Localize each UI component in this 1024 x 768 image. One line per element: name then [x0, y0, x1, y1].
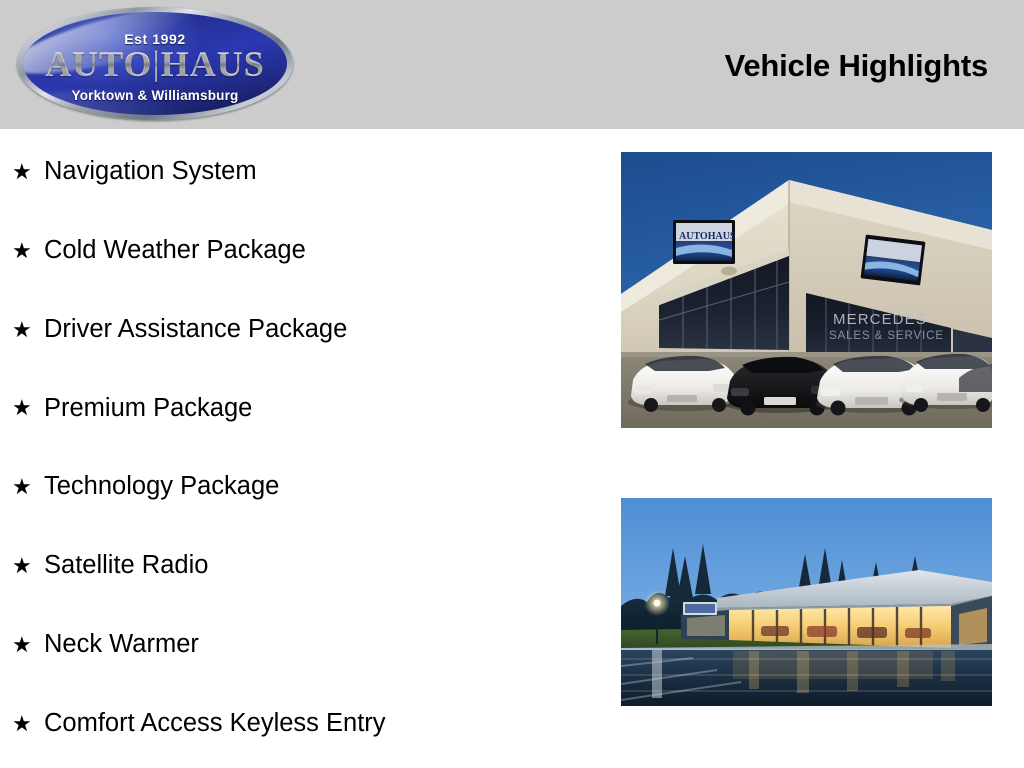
- star-bullet-icon: ★: [12, 476, 44, 498]
- star-bullet-icon: ★: [12, 713, 44, 735]
- feature-list-item: ★Driver Assistance Package: [12, 313, 347, 347]
- feature-list-item: ★Premium Package: [12, 391, 252, 425]
- feature-list-item: ★Comfort Access Keyless Entry: [12, 707, 386, 741]
- star-bullet-icon: ★: [12, 161, 44, 183]
- feature-list-item: ★Navigation System: [12, 155, 257, 189]
- dealership-exterior-day-photo: MERCEDES SALES & SERVICE AUTOHAUS: [621, 152, 992, 428]
- star-bullet-icon: ★: [12, 319, 44, 341]
- feature-label: Premium Package: [44, 396, 252, 422]
- logo-word-auto: AUTO: [45, 44, 152, 84]
- feature-label: Satellite Radio: [44, 553, 208, 579]
- auto-haus-logo: Est 1992 AUTO|HAUS Yorktown & Williamsbu…: [17, 7, 293, 120]
- header-band: Est 1992 AUTO|HAUS Yorktown & Williamsbu…: [0, 0, 1024, 129]
- feature-label: Driver Assistance Package: [44, 317, 347, 343]
- feature-label: Technology Package: [44, 474, 279, 500]
- logo-word-haus: HAUS: [161, 44, 265, 84]
- feature-label: Navigation System: [44, 159, 257, 185]
- feature-label: Neck Warmer: [44, 632, 199, 658]
- feature-list-item: ★Cold Weather Package: [12, 234, 306, 268]
- feature-list-item: ★Neck Warmer: [12, 628, 199, 662]
- star-bullet-icon: ★: [12, 555, 44, 577]
- svg-text:AUTOHAUS: AUTOHAUS: [679, 231, 736, 242]
- svg-text:MERCEDES: MERCEDES: [833, 311, 927, 328]
- svg-text:SALES & SERVICE: SALES & SERVICE: [829, 330, 944, 342]
- feature-list-item: ★Satellite Radio: [12, 549, 208, 583]
- logo-tagline: Yorktown & Williamsburg: [23, 88, 287, 103]
- feature-label: Cold Weather Package: [44, 238, 306, 264]
- logo-divider: |: [153, 44, 161, 84]
- star-bullet-icon: ★: [12, 634, 44, 656]
- dealership-exterior-dusk-photo: [621, 498, 992, 706]
- feature-list-item: ★Technology Package: [12, 470, 279, 504]
- page-title: Vehicle Highlights: [725, 48, 988, 84]
- star-bullet-icon: ★: [12, 397, 44, 419]
- feature-label: Comfort Access Keyless Entry: [44, 711, 386, 737]
- logo-chrome-rim: Est 1992 AUTO|HAUS Yorktown & Williamsbu…: [17, 7, 293, 120]
- logo-wordmark: AUTO|HAUS: [23, 46, 287, 82]
- star-bullet-icon: ★: [12, 240, 44, 262]
- logo-blue-oval: Est 1992 AUTO|HAUS Yorktown & Williamsbu…: [23, 12, 287, 115]
